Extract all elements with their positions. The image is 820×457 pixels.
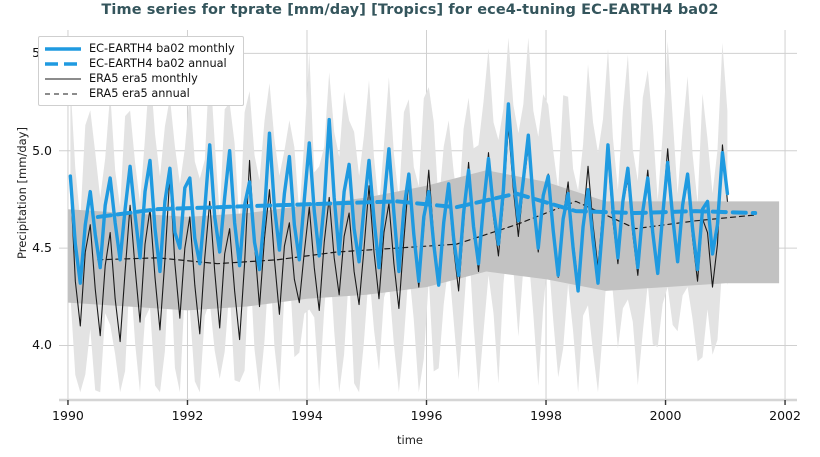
- y-tick-label: 4.5: [8, 240, 52, 255]
- axis-lines: [59, 400, 797, 405]
- legend-item-label: ERA5 era5 monthly: [89, 73, 198, 85]
- legend[interactable]: EC-EARTH4 ba02 monthlyEC-EARTH4 ba02 ann…: [38, 36, 244, 106]
- legend-key-ecearth4-monthly: [44, 43, 82, 55]
- x-tick-label: 1998: [516, 408, 576, 423]
- legend-item-label: EC-EARTH4 ba02 monthly: [89, 43, 235, 55]
- legend-item[interactable]: EC-EARTH4 ba02 annual: [44, 56, 235, 71]
- y-tick-label: 5.0: [8, 143, 52, 158]
- chart-root: Time series for tprate [mm/day] [Tropics…: [0, 0, 820, 457]
- x-tick-label: 1996: [397, 408, 457, 423]
- y-axis-label: Precipitation [mm/day]: [15, 83, 29, 303]
- legend-key-era5-annual: [44, 88, 82, 100]
- legend-key-ecearth4-annual: [44, 58, 82, 70]
- x-tick-label: 2000: [636, 408, 696, 423]
- y-tick-label: 4.0: [8, 337, 52, 352]
- legend-item[interactable]: ERA5 era5 annual: [44, 86, 235, 101]
- x-tick-label: 1992: [157, 408, 217, 423]
- legend-item-label: ERA5 era5 annual: [89, 88, 190, 100]
- legend-item[interactable]: EC-EARTH4 ba02 monthly: [44, 41, 235, 56]
- x-axis-label: time: [0, 433, 820, 447]
- legend-key-era5-monthly: [44, 73, 82, 85]
- legend-item-label: EC-EARTH4 ba02 annual: [89, 58, 227, 70]
- x-tick-label: 1990: [38, 408, 98, 423]
- legend-item[interactable]: ERA5 era5 monthly: [44, 71, 235, 86]
- x-tick-label: 1994: [277, 408, 337, 423]
- x-tick-label: 2002: [755, 408, 815, 423]
